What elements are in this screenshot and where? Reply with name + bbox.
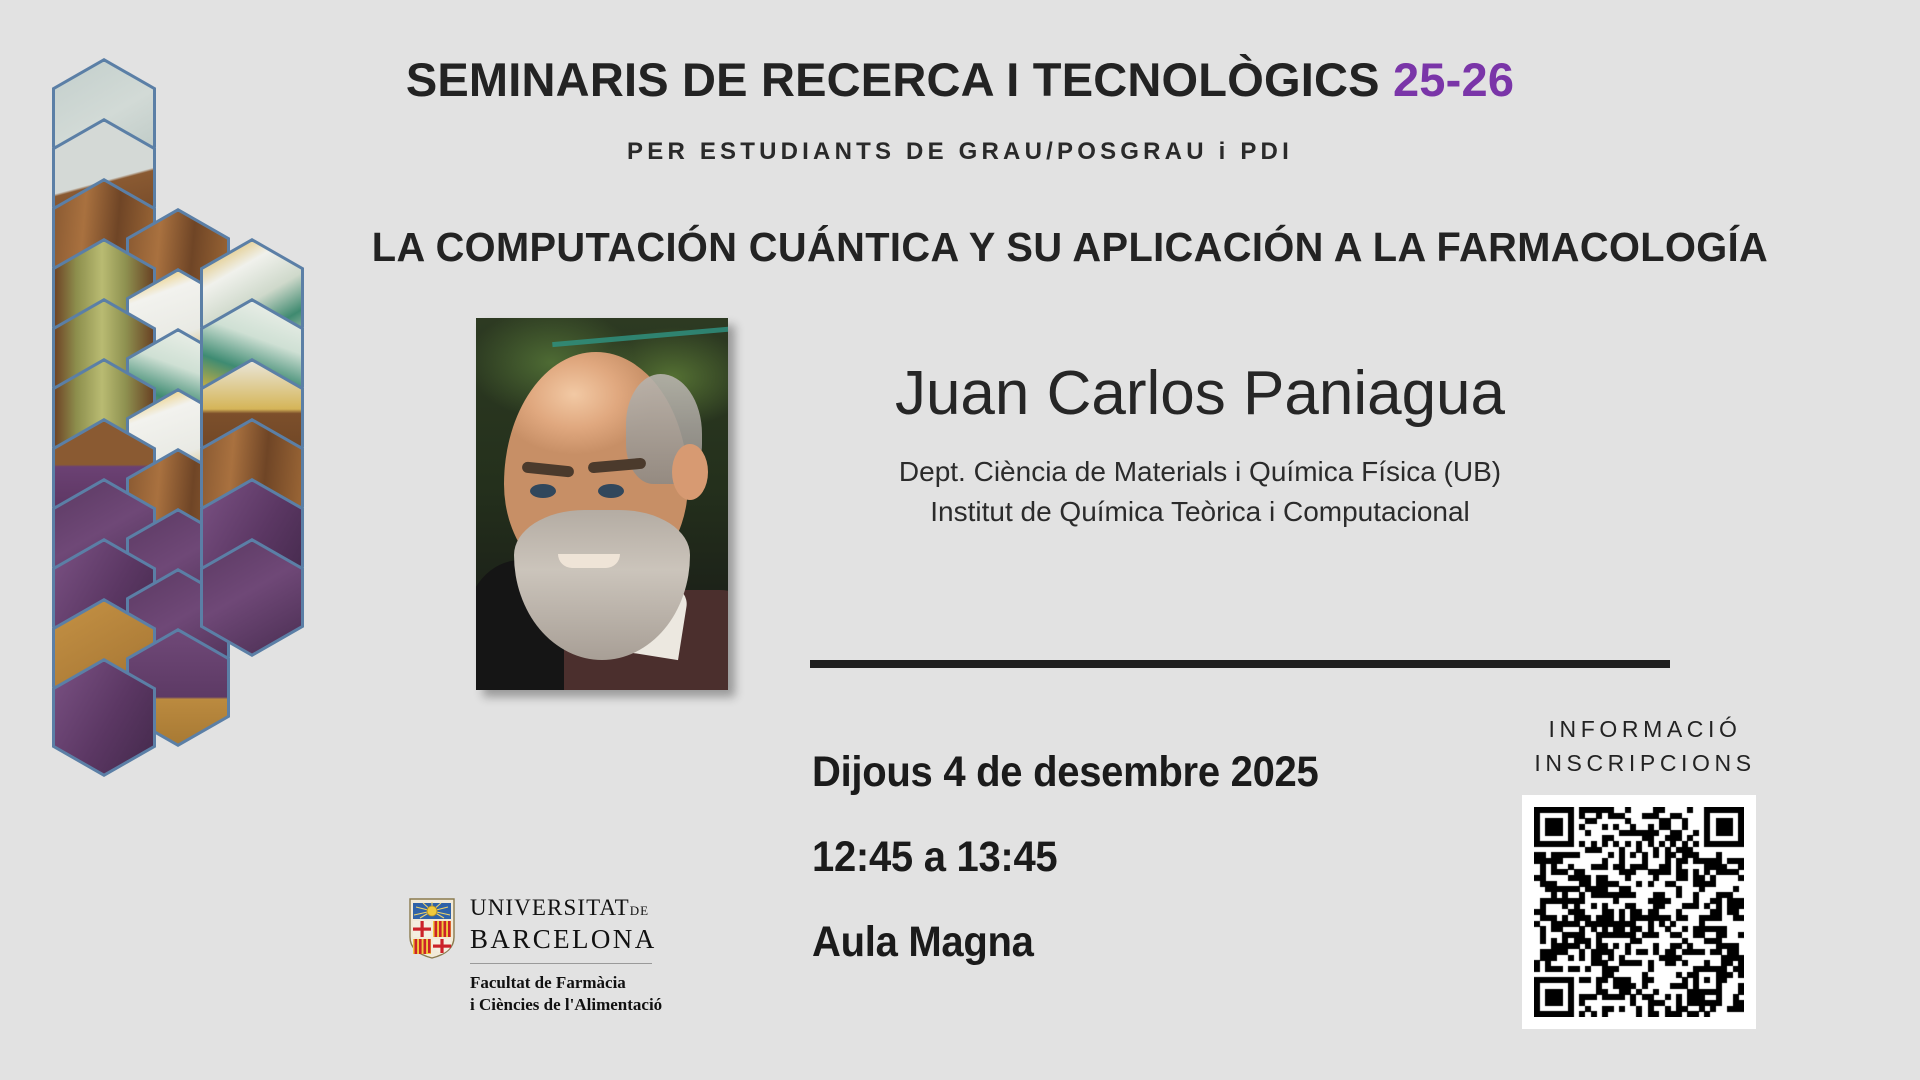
header-title-text: SEMINARIS DE RECERCA I TECNOLÒGICS (406, 53, 1393, 106)
registration-label-line-2: INSCRIPCIONS (1500, 746, 1790, 780)
speaker-ear (672, 444, 708, 500)
ub-faculty-line-2: i Ciències de l'Alimentació (470, 994, 658, 1016)
speaker-photo (476, 318, 728, 690)
ub-logo-de: DE (630, 903, 649, 918)
speaker-eye-right (598, 484, 624, 498)
speaker-affiliation-line-1: Dept. Ciència de Materials i Química Fís… (800, 456, 1600, 488)
ub-logo-line-2: BARCELONA (470, 924, 658, 954)
seminar-poster: SEMINARIS DE RECERCA I TECNOLÒGICS 25-26… (0, 0, 1920, 1080)
qr-code[interactable] (1522, 795, 1756, 1029)
event-location: Aula Magna (812, 918, 1034, 967)
ub-logo-universitat: UNIVERSITAT (470, 895, 630, 920)
qr-code-canvas[interactable] (1534, 807, 1744, 1017)
ub-logo-line-1: UNIVERSITATDE (470, 895, 658, 924)
ub-logo-wordmark: UNIVERSITATDE BARCELONA (470, 895, 658, 954)
ub-crest-icon (408, 897, 456, 959)
ub-logo-divider (470, 963, 652, 964)
header-title-year: 25-26 (1393, 53, 1514, 106)
registration-label-line-1: INFORMACIÓ (1500, 712, 1790, 746)
speaker-eye-left (530, 484, 556, 498)
ub-faculty-name: Facultat de Farmàcia i Ciències de l'Ali… (470, 972, 658, 1016)
poster-header-title: SEMINARIS DE RECERCA I TECNOLÒGICS 25-26 (0, 52, 1920, 107)
ub-faculty-line-1: Facultat de Farmàcia (470, 972, 658, 994)
section-divider (810, 660, 1670, 668)
poster-header-subtitle: PER ESTUDIANTS DE GRAU/POSGRAU i PDI (0, 138, 1920, 166)
speaker-affiliation-line-2: Institut de Química Teòrica i Computacio… (800, 496, 1600, 528)
event-time: 12:45 a 13:45 (812, 833, 1057, 882)
seminar-title: LA COMPUTACIÓN CUÁNTICA Y SU APLICACIÓN … (265, 224, 1875, 271)
ub-logo: UNIVERSITATDE BARCELONA Facultat de Farm… (408, 895, 658, 1016)
speaker-name: Juan Carlos Paniagua (800, 358, 1600, 429)
registration-label: INFORMACIÓ INSCRIPCIONS (1500, 712, 1790, 780)
event-date: Dijous 4 de desembre 2025 (812, 748, 1318, 797)
hexagon-mosaic-decoration (52, 58, 292, 1048)
speaker-mouth (558, 554, 620, 568)
